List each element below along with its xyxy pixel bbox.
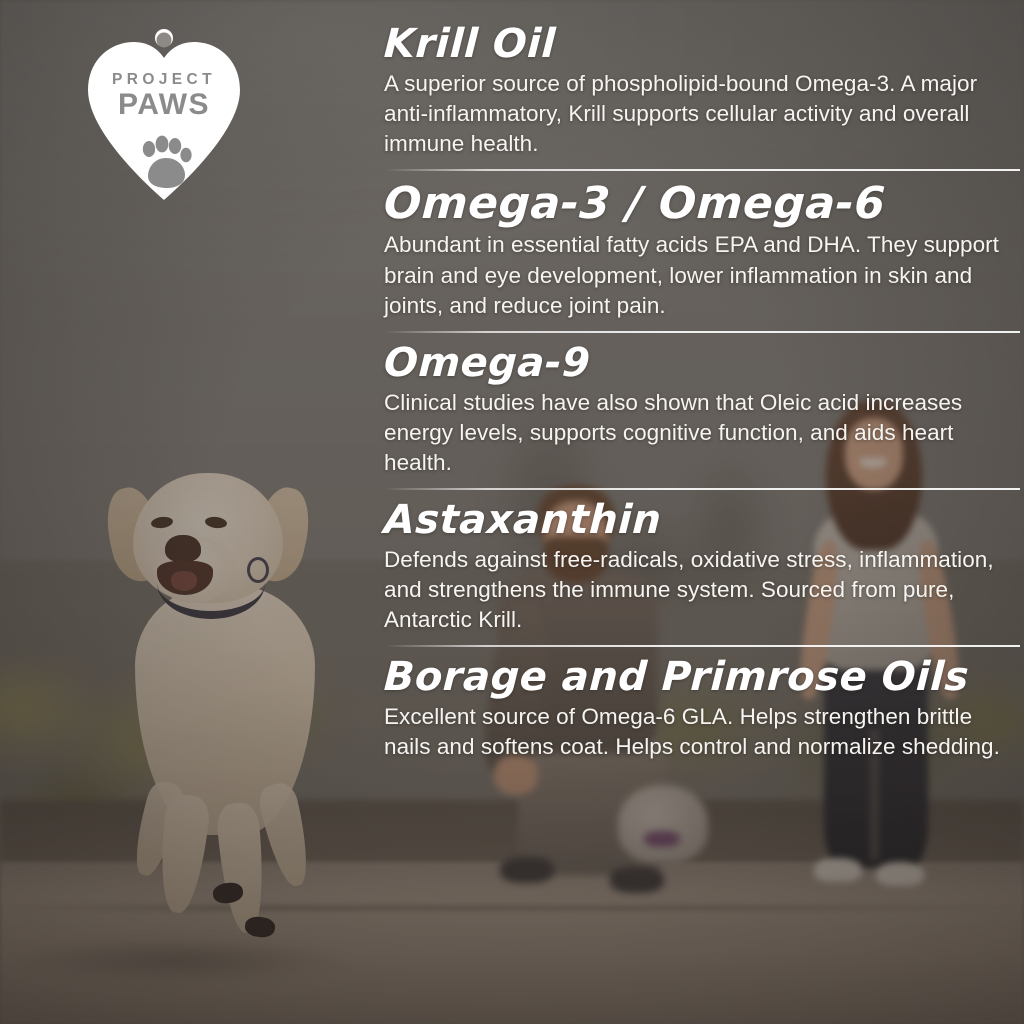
poster-content: PROJECT PAWS Krill Oil A superior source… (0, 0, 1024, 1024)
section-heading: Omega-3 / Omega-6 (383, 179, 1022, 228)
section-heading: Borage and Primrose Oils (383, 655, 1021, 700)
section-borage-primrose: Borage and Primrose Oils Excellent sourc… (384, 655, 1020, 762)
section-divider-3 (384, 488, 1020, 490)
section-body: Defends against free-radicals, oxidative… (384, 545, 1020, 635)
section-body: Excellent source of Omega-6 GLA. Helps s… (384, 702, 1020, 762)
section-heading: Krill Oil (383, 22, 1021, 67)
section-body: Abundant in essential fatty acids EPA an… (384, 230, 1020, 320)
section-omega-9: Omega-9 Clinical studies have also shown… (384, 341, 1020, 478)
section-divider-2 (384, 331, 1020, 333)
section-krill-oil: Krill Oil A superior source of phospholi… (384, 22, 1020, 159)
heart-tag-icon (84, 28, 244, 203)
section-divider-4 (384, 645, 1020, 647)
section-astaxanthin: Astaxanthin Defends against free-radical… (384, 498, 1020, 635)
section-heading: Astaxanthin (383, 498, 1021, 543)
section-divider-1 (384, 169, 1020, 171)
section-body: Clinical studies have also shown that Ol… (384, 388, 1020, 478)
section-body: A superior source of phospholipid-bound … (384, 69, 1020, 159)
ingredient-sections: Krill Oil A superior source of phospholi… (384, 22, 1020, 762)
section-heading: Omega-9 (383, 341, 1021, 386)
ingredient-infographic-poster: PROJECT PAWS Krill Oil A superior source… (0, 0, 1024, 1024)
project-paws-logo: PROJECT PAWS (84, 28, 244, 203)
section-omega-3-6: Omega-3 / Omega-6 Abundant in essential … (384, 179, 1020, 321)
